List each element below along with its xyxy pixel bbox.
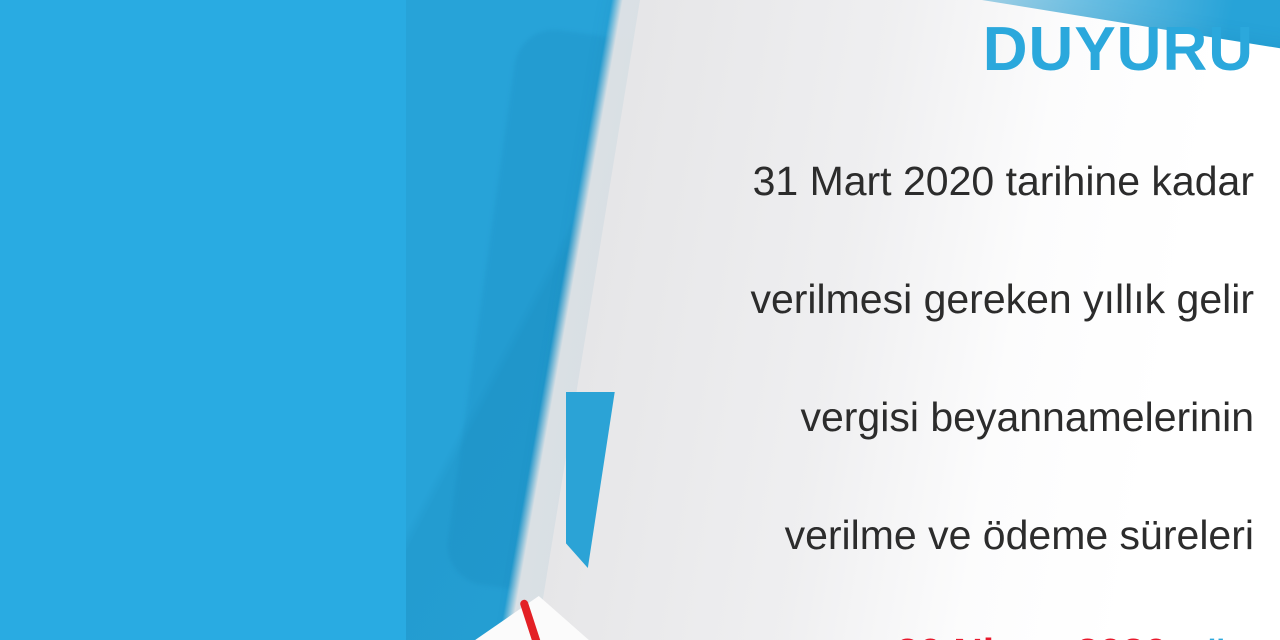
body-line-1: 31 Mart 2020 tarihine kadar	[554, 152, 1254, 211]
page-title: DUYURU	[554, 18, 1254, 81]
highlight-line-1: 30 Nisan 2020 gün	[554, 624, 1254, 640]
body-line-2: verilmesi gereken yıllık gelir	[554, 270, 1254, 329]
deadline-date-highlight: 30 Nisan 2020	[896, 630, 1167, 640]
body-line-3: vergisi beyannamelerinin	[554, 388, 1254, 447]
deadline-suffix-highlight: gün	[1179, 630, 1254, 640]
announcement-body: 31 Mart 2020 tarihine kadar verilmesi ge…	[554, 93, 1254, 640]
content-column: DUYURU 31 Mart 2020 tarihine kadar veril…	[554, 0, 1254, 640]
body-line-4: verilme ve ödeme süreleri	[554, 506, 1254, 565]
announcement-poster: DUYURU 31 Mart 2020 tarihine kadar veril…	[0, 0, 1280, 640]
